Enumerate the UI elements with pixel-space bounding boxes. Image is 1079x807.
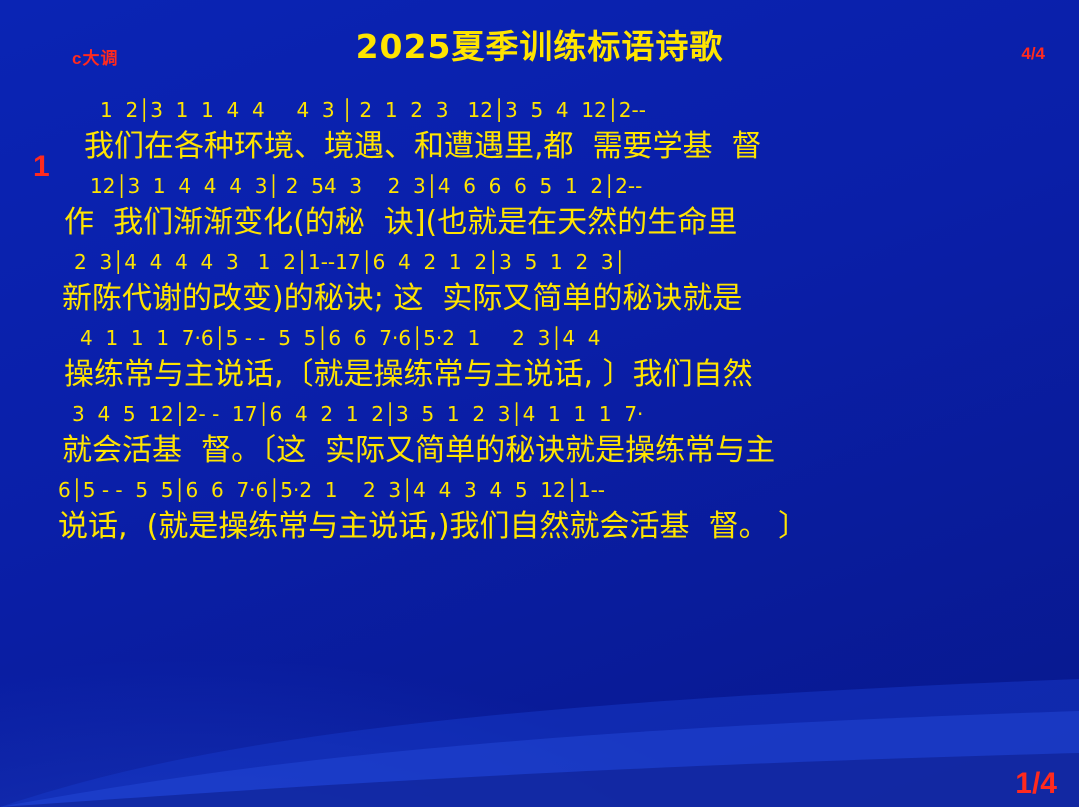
song-line: 6│5 - - 5 5│6 6 7·6│5·2 1 2 3│4 4 3 4 5 …	[0, 475, 1079, 549]
lyrics-row: 作 我们渐渐变化(的秘 诀](也就是在天然的生命里	[0, 201, 1079, 245]
time-signature-label: 4/4	[1021, 44, 1045, 64]
notation-row: 1 2│3 1 1 4 4 4 3 │ 2 1 2 3 12│3 5 4 12│…	[0, 95, 1079, 125]
lyrics-row: 新陈代谢的改变)的秘诀; 这 实际又简单的秘诀就是	[0, 277, 1079, 321]
song-line: 3 4 5 12│2- - 17│6 4 2 1 2│3 5 1 2 3│4 1…	[0, 399, 1079, 473]
song-line: 2 3│4 4 4 4 3 1 2│1--17│6 4 2 1 2│3 5 1 …	[0, 247, 1079, 321]
lyrics-row: 我们在各种环境、境遇、和遭遇里,都 需要学基 督	[0, 125, 1079, 169]
notation-row: 12│3 1 4 4 4 3│ 2 54 3 2 3│4 6 6 6 5 1 2…	[0, 171, 1079, 201]
song-line: 12│3 1 4 4 4 3│ 2 54 3 2 3│4 6 6 6 5 1 2…	[0, 171, 1079, 245]
notation-row: 6│5 - - 5 5│6 6 7·6│5·2 1 2 3│4 4 3 4 5 …	[0, 475, 1079, 505]
page-title: 2025夏季训练标语诗歌	[0, 20, 1079, 68]
notation-row: 4 1 1 1 7·6│5 - - 5 5│6 6 7·6│5·2 1 2 3│…	[0, 323, 1079, 353]
song-sheet: 1 2│3 1 1 4 4 4 3 │ 2 1 2 3 12│3 5 4 12│…	[0, 95, 1079, 551]
lyrics-row: 说话, (就是操练常与主说话,)我们自然就会活基 督。 〕	[0, 505, 1079, 549]
page-number: 1/4	[1015, 767, 1057, 801]
notation-row: 2 3│4 4 4 4 3 1 2│1--17│6 4 2 1 2│3 5 1 …	[0, 247, 1079, 277]
lyrics-row: 操练常与主说话,〔就是操练常与主说话, 〕我们自然	[0, 353, 1079, 397]
background-decoration	[0, 627, 1079, 807]
song-line: 4 1 1 1 7·6│5 - - 5 5│6 6 7·6│5·2 1 2 3│…	[0, 323, 1079, 397]
lyrics-row: 就会活基 督。〔这 实际又简单的秘诀就是操练常与主	[0, 429, 1079, 473]
notation-row: 3 4 5 12│2- - 17│6 4 2 1 2│3 5 1 2 3│4 1…	[0, 399, 1079, 429]
song-line: 1 2│3 1 1 4 4 4 3 │ 2 1 2 3 12│3 5 4 12│…	[0, 95, 1079, 169]
